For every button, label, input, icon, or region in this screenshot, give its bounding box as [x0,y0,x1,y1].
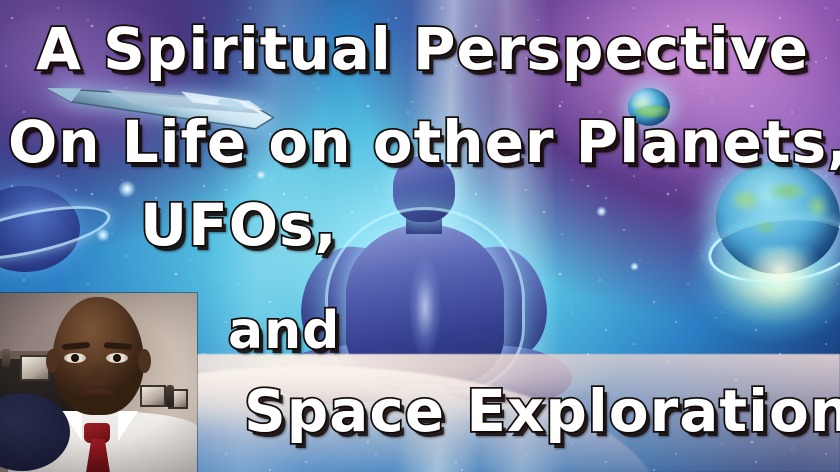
title-line-4: and [228,305,340,357]
title-line-5: Space Exploration [244,382,840,440]
title-line-2: On Life on other Planets, [8,113,840,171]
webcam-vignette [0,293,197,472]
planet-beam [730,246,830,336]
title-line-3: UFOs, [140,196,338,254]
title-line-1: A Spiritual Perspective [36,20,809,78]
video-thumbnail: A Spiritual Perspective On Life on other… [0,0,840,472]
earth-planet [700,162,840,312]
presenter-webcam [0,293,197,472]
